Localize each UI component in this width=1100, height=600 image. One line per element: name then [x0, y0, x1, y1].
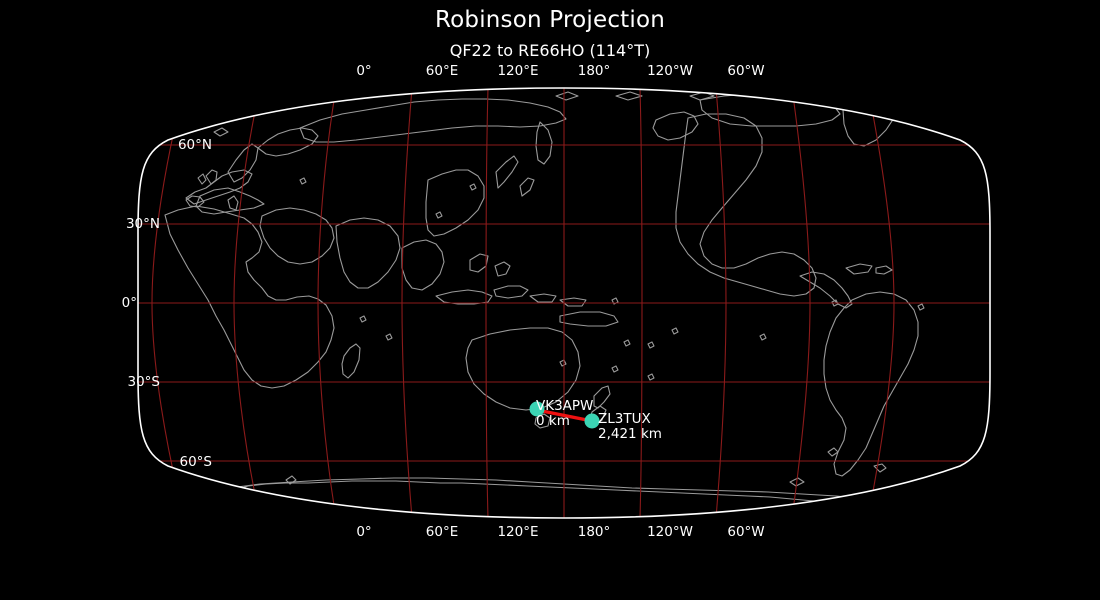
- lon-label-bottom-2: 120°E: [497, 524, 538, 540]
- lon-label-top-3: 180°: [578, 63, 611, 79]
- lon-label-top-4: 120°W: [647, 63, 693, 79]
- lon-label-bottom-1: 60°E: [426, 524, 458, 540]
- lat-label-30s: 30°S: [128, 374, 161, 390]
- lon-label-bottom-3: 180°: [578, 524, 611, 540]
- station-callsign-origin: VK3APW: [536, 398, 593, 414]
- lat-label-60s: 60°S: [180, 454, 213, 470]
- station-distance-destination: 2,421 km: [598, 426, 662, 442]
- station-callsign-destination: ZL3TUX: [598, 411, 651, 427]
- lon-label-top-1: 60°E: [426, 63, 458, 79]
- lon-label-top-5: 60°W: [727, 63, 764, 79]
- lat-label-0: 0°: [122, 295, 137, 311]
- lon-label-bottom-5: 60°W: [727, 524, 764, 540]
- map-figure: Robinson Projection QF22 to RE66HO (114°…: [0, 0, 1100, 600]
- lon-label-bottom-0: 0°: [356, 524, 371, 540]
- robinson-map: [0, 0, 1100, 600]
- lon-label-bottom-4: 120°W: [647, 524, 693, 540]
- station-distance-origin: 0 km: [536, 413, 570, 429]
- lon-label-top-0: 0°: [356, 63, 371, 79]
- lat-label-60n: 60°N: [178, 137, 212, 153]
- lon-label-top-2: 120°E: [497, 63, 538, 79]
- lat-label-30n: 30°N: [126, 216, 160, 232]
